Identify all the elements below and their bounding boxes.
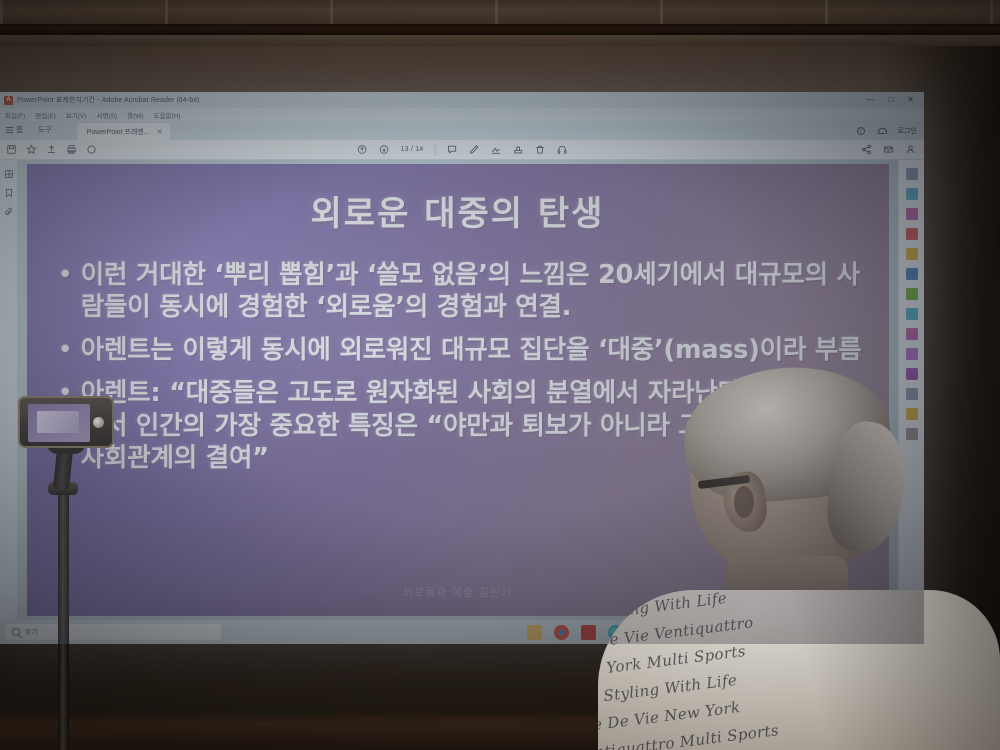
- protect-icon[interactable]: [906, 308, 918, 320]
- close-button[interactable]: ✕: [907, 96, 914, 104]
- minimize-button[interactable]: —: [866, 96, 874, 104]
- ceiling: [0, 0, 1000, 26]
- menu-item-view[interactable]: 보기(V): [66, 110, 87, 120]
- person-icon[interactable]: [905, 144, 916, 155]
- smartphone: [18, 396, 114, 448]
- slide-bullet-text: 이런 거대한 ‘뿌리 뽑힘’과 ‘쓸모 없음’의 느낌은 20세기에서 대규모의…: [81, 259, 875, 323]
- bullet-marker-icon: •: [59, 334, 72, 366]
- stamp-icon[interactable]: [512, 144, 523, 155]
- chrome-icon[interactable]: [554, 625, 569, 640]
- window-titlebar: A PowerPoint 표제한지기간 - Adobe Acrobat Read…: [0, 92, 924, 108]
- save-icon[interactable]: [6, 144, 17, 155]
- phone-screen-preview: [37, 411, 79, 433]
- slide-bullet: • 아렌트는 이렇게 동시에 외로워진 대규모 집단을 ‘대중’(mass)이라…: [59, 334, 875, 366]
- email-icon[interactable]: [86, 144, 97, 155]
- stamp-tool-icon[interactable]: [906, 268, 918, 280]
- menu-item-sign[interactable]: 서명(S): [97, 110, 118, 120]
- page-up-icon[interactable]: [357, 144, 368, 155]
- slide-bullet-text: 아렌트는 이렇게 동시에 외로워진 대규모 집단을 ‘대중’(mass)이라 부…: [81, 334, 875, 366]
- bell-icon[interactable]: [878, 127, 885, 135]
- slide-title: 외로운 대중의 탄생: [27, 186, 889, 235]
- page-indicator[interactable]: 13 / 14: [401, 146, 424, 153]
- toolbar-right-group: [861, 144, 924, 155]
- signature-icon[interactable]: [490, 144, 501, 155]
- comment-tool-icon[interactable]: [906, 248, 918, 260]
- menu-item-help[interactable]: 도움말(H): [154, 110, 181, 120]
- ceiling-grid: [0, 0, 1000, 26]
- tab-home[interactable]: 홈: [0, 124, 32, 140]
- maximize-button[interactable]: □: [888, 96, 893, 104]
- combine-files-icon[interactable]: [906, 348, 918, 360]
- photo-scene: A PowerPoint 표제한지기간 - Adobe Acrobat Read…: [0, 0, 1000, 750]
- document-toolbar: 13 / 14: [0, 140, 924, 160]
- star-icon[interactable]: [26, 144, 37, 155]
- envelope-icon[interactable]: [883, 144, 894, 155]
- tabbar-right-group: 로그인: [857, 126, 924, 140]
- page-down-icon[interactable]: [379, 144, 390, 155]
- tabbar: 홈 도구 PowerPoint 프레젠... ✕ 로그인: [0, 121, 924, 140]
- menu-item-edit[interactable]: 편집(E): [35, 110, 56, 120]
- window-controls: — □ ✕: [866, 96, 920, 104]
- acrobat-reader-icon[interactable]: [581, 625, 596, 640]
- comment-icon[interactable]: [446, 144, 457, 155]
- tab-home-label: 홈: [16, 124, 23, 135]
- create-pdf-icon[interactable]: [906, 188, 918, 200]
- close-icon[interactable]: ✕: [157, 128, 163, 136]
- window-title: PowerPoint 표제한지기간 - Adobe Acrobat Reader…: [17, 95, 199, 105]
- phone-screen: [28, 404, 90, 442]
- toolbar-separator: [434, 144, 435, 156]
- tab-document-label: PowerPoint 프레젠...: [87, 127, 150, 137]
- hamburger-icon: [6, 127, 13, 133]
- read-aloud-icon[interactable]: [556, 144, 567, 155]
- menu-item-window[interactable]: 창(W): [127, 110, 143, 120]
- ear-inner: [734, 486, 754, 518]
- ceiling-cornice: [0, 24, 1000, 35]
- toolbar-center-group: 13 / 14: [357, 144, 568, 156]
- export-pdf-icon[interactable]: [906, 228, 918, 240]
- delete-icon[interactable]: [534, 144, 545, 155]
- menubar: 파일(F) 편집(E) 보기(V) 서명(S) 창(W) 도움말(H): [0, 108, 924, 121]
- search-tool-icon[interactable]: [906, 168, 918, 180]
- shirt-script-pattern: The Styling With Life Joie De Vie Ventiq…: [598, 590, 1000, 750]
- help-icon[interactable]: [857, 127, 865, 135]
- attachments-icon[interactable]: [4, 207, 14, 217]
- edit-pdf-icon[interactable]: [906, 328, 918, 340]
- phone-tripod-rig: [8, 390, 128, 750]
- tab-tools[interactable]: 도구: [32, 124, 61, 140]
- page-thumbnails-icon[interactable]: [4, 169, 14, 179]
- bullet-marker-icon: •: [59, 259, 72, 323]
- sign-in-button[interactable]: 로그인: [898, 126, 917, 136]
- phone-camera-lens-icon: [93, 417, 104, 428]
- highlight-pencil-icon[interactable]: [468, 144, 479, 155]
- acrobat-logo-icon: A: [4, 96, 13, 105]
- print-icon[interactable]: [66, 144, 77, 155]
- fill-sign-icon[interactable]: [906, 288, 918, 300]
- tab-tools-label: 도구: [38, 124, 52, 135]
- menu-item-file[interactable]: 파일(F): [5, 110, 25, 120]
- seated-person: The Styling With Life Joie De Vie Ventiq…: [598, 368, 1000, 750]
- organize-pages-icon[interactable]: [906, 208, 918, 220]
- toolbar-left-group: [0, 144, 97, 155]
- patterned-shirt: The Styling With Life Joie De Vie Ventiq…: [598, 590, 1000, 750]
- upload-icon[interactable]: [46, 144, 57, 155]
- slide-bullet: • 이런 거대한 ‘뿌리 뽑힘’과 ‘쓸모 없음’의 느낌은 20세기에서 대규…: [59, 259, 875, 323]
- share-icon[interactable]: [861, 144, 872, 155]
- file-explorer-icon[interactable]: [527, 625, 542, 640]
- tab-document[interactable]: PowerPoint 프레젠... ✕: [77, 123, 170, 140]
- bookmarks-icon[interactable]: [4, 188, 14, 198]
- tripod-pole: [58, 492, 69, 750]
